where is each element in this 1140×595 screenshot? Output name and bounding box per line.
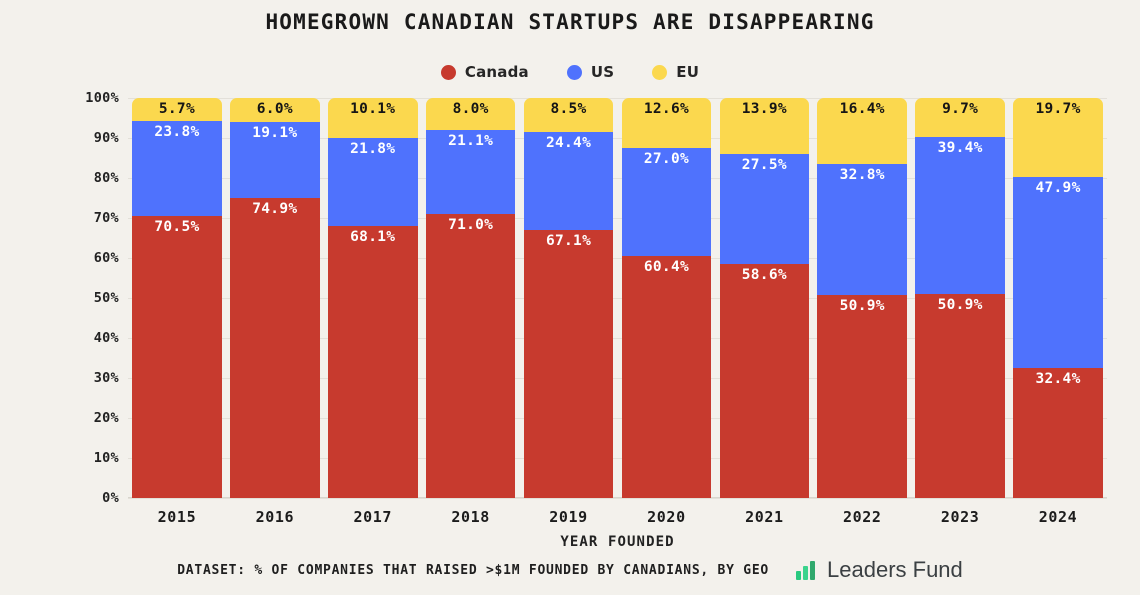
legend-label: US (591, 63, 614, 81)
bar-value-label: 70.5% (132, 218, 222, 236)
bar-value-label: 32.4% (1013, 370, 1103, 388)
bar-segment-canada-2016[interactable]: 74.9% (230, 198, 320, 498)
bar-value-label: 50.9% (817, 297, 907, 315)
bar-stack: 13.9%27.5%58.6% (720, 98, 810, 498)
bar-segment-us-2022[interactable]: 32.8% (817, 164, 907, 295)
page-title: HOMEGROWN CANADIAN STARTUPS ARE DISAPPEA… (0, 10, 1140, 34)
bar-segment-canada-2018[interactable]: 71.0% (426, 214, 516, 498)
bar-segment-eu-2016[interactable]: 6.0% (230, 98, 320, 122)
bar-segment-canada-2023[interactable]: 50.9% (915, 294, 1005, 498)
bar-group-2022[interactable]: 16.4%32.8%50.9%2022 (817, 98, 907, 498)
footer: DATASET: % OF COMPANIES THAT RAISED >$1M… (0, 557, 1140, 583)
bar-value-label: 32.8% (817, 166, 907, 184)
x-axis-tick-2021: 2021 (720, 508, 810, 526)
bar-segment-eu-2020[interactable]: 12.6% (622, 98, 712, 148)
bar-group-2023[interactable]: 9.7%39.4%50.9%2023 (915, 98, 1005, 498)
legend-dot-canada (441, 65, 456, 80)
y-axis-tick: 50% (94, 290, 119, 306)
bar-segment-canada-2024[interactable]: 32.4% (1013, 368, 1103, 498)
bar-value-label: 21.1% (426, 132, 516, 150)
bar-segment-us-2023[interactable]: 39.4% (915, 137, 1005, 295)
bar-value-label: 6.0% (230, 100, 320, 118)
plot-area: % OF OVERALL CANADIAN FOUNDED COMPANIES … (128, 98, 1107, 498)
bar-value-label: 47.9% (1013, 179, 1103, 197)
y-axis-tick: 40% (94, 330, 119, 346)
y-axis-tick: 30% (94, 370, 119, 386)
bar-stack: 19.7%47.9%32.4% (1013, 98, 1103, 498)
bar-group-2024[interactable]: 19.7%47.9%32.4%2024 (1013, 98, 1103, 498)
y-axis-tick: 100% (85, 90, 119, 106)
bar-value-label: 27.0% (622, 150, 712, 168)
bar-stack: 8.0%21.1%71.0% (426, 98, 516, 498)
bar-segment-us-2018[interactable]: 21.1% (426, 130, 516, 214)
bar-segment-us-2016[interactable]: 19.1% (230, 122, 320, 198)
legend-label: Canada (465, 63, 529, 81)
bar-segment-us-2015[interactable]: 23.8% (132, 121, 222, 216)
bar-value-label: 68.1% (328, 228, 418, 246)
bar-group-2021[interactable]: 13.9%27.5%58.6%2021 (720, 98, 810, 498)
bar-segment-us-2021[interactable]: 27.5% (720, 154, 810, 264)
legend-item-canada[interactable]: Canada (441, 63, 529, 81)
chart-legend: CanadaUSEU (0, 63, 1140, 81)
y-axis-tick: 90% (94, 130, 119, 146)
x-axis-tick-2024: 2024 (1013, 508, 1103, 526)
bar-value-label: 13.9% (720, 100, 810, 118)
bar-value-label: 5.7% (132, 100, 222, 118)
bar-value-label: 71.0% (426, 216, 516, 234)
y-axis-tick: 70% (94, 210, 119, 226)
y-axis-tick: 20% (94, 410, 119, 426)
bar-stack: 10.1%21.8%68.1% (328, 98, 418, 498)
bar-value-label: 9.7% (915, 100, 1005, 118)
bar-group-2020[interactable]: 12.6%27.0%60.4%2020 (622, 98, 712, 498)
bar-segment-us-2017[interactable]: 21.8% (328, 138, 418, 225)
x-axis-tick-2016: 2016 (230, 508, 320, 526)
x-axis-tick-2023: 2023 (915, 508, 1005, 526)
bar-segment-eu-2017[interactable]: 10.1% (328, 98, 418, 138)
legend-dot-eu (652, 65, 667, 80)
y-axis-tick: 80% (94, 170, 119, 186)
bar-value-label: 8.5% (524, 100, 614, 118)
legend-item-eu[interactable]: EU (652, 63, 699, 81)
bar-value-label: 19.7% (1013, 100, 1103, 118)
bar-segment-eu-2022[interactable]: 16.4% (817, 98, 907, 164)
bar-value-label: 24.4% (524, 134, 614, 152)
bar-segment-eu-2018[interactable]: 8.0% (426, 98, 516, 130)
x-axis-tick-2019: 2019 (524, 508, 614, 526)
bar-stack: 8.5%24.4%67.1% (524, 98, 614, 498)
bar-group-2015[interactable]: 5.7%23.8%70.5%2015 (132, 98, 222, 498)
bar-segment-canada-2019[interactable]: 67.1% (524, 230, 614, 498)
x-axis-tick-2017: 2017 (328, 508, 418, 526)
y-axis-tick: 60% (94, 250, 119, 266)
bar-value-label: 19.1% (230, 124, 320, 142)
bar-value-label: 16.4% (817, 100, 907, 118)
x-axis-tick-2020: 2020 (622, 508, 712, 526)
bar-value-label: 21.8% (328, 140, 418, 158)
dataset-caption: DATASET: % OF COMPANIES THAT RAISED >$1M… (177, 563, 769, 578)
bar-stack: 6.0%19.1%74.9% (230, 98, 320, 498)
bar-value-label: 8.0% (426, 100, 516, 118)
bar-segment-eu-2023[interactable]: 9.7% (915, 98, 1005, 137)
x-axis-title: YEAR FOUNDED (128, 534, 1107, 550)
bar-value-label: 10.1% (328, 100, 418, 118)
bar-value-label: 23.8% (132, 123, 222, 141)
bar-value-label: 27.5% (720, 156, 810, 174)
bar-stack: 9.7%39.4%50.9% (915, 98, 1005, 498)
bar-group-2017[interactable]: 10.1%21.8%68.1%2017 (328, 98, 418, 498)
legend-dot-us (567, 65, 582, 80)
bar-stack: 5.7%23.8%70.5% (132, 98, 222, 498)
bar-value-label: 60.4% (622, 258, 712, 276)
legend-item-us[interactable]: US (567, 63, 614, 81)
bar-segment-eu-2015[interactable]: 5.7% (132, 98, 222, 121)
bar-group-2016[interactable]: 6.0%19.1%74.9%2016 (230, 98, 320, 498)
x-axis-tick-2018: 2018 (426, 508, 516, 526)
bar-segment-canada-2015[interactable]: 70.5% (132, 216, 222, 498)
y-axis-tick: 0% (102, 490, 119, 506)
y-axis-tick: 10% (94, 450, 119, 466)
legend-label: EU (676, 63, 699, 81)
x-axis-tick-2015: 2015 (132, 508, 222, 526)
bar-segment-us-2024[interactable]: 47.9% (1013, 177, 1103, 369)
bar-value-label: 74.9% (230, 200, 320, 218)
bar-group-2019[interactable]: 8.5%24.4%67.1%2019 (524, 98, 614, 498)
bar-segment-canada-2017[interactable]: 68.1% (328, 226, 418, 498)
bar-value-label: 12.6% (622, 100, 712, 118)
bar-segment-canada-2021[interactable]: 58.6% (720, 264, 810, 498)
bar-segment-eu-2024[interactable]: 19.7% (1013, 98, 1103, 177)
bar-stack: 12.6%27.0%60.4% (622, 98, 712, 498)
brand-logo: Leaders Fund (795, 557, 963, 583)
bar-chart-icon (795, 558, 819, 582)
bar-segment-eu-2021[interactable]: 13.9% (720, 98, 810, 154)
bar-segment-us-2019[interactable]: 24.4% (524, 132, 614, 230)
bar-value-label: 39.4% (915, 139, 1005, 157)
bar-segment-canada-2020[interactable]: 60.4% (622, 256, 712, 498)
bar-segment-eu-2019[interactable]: 8.5% (524, 98, 614, 132)
bar-stack: 16.4%32.8%50.9% (817, 98, 907, 498)
brand-name: Leaders Fund (827, 557, 963, 583)
bar-value-label: 58.6% (720, 266, 810, 284)
gridline (128, 498, 1107, 499)
bar-group-2018[interactable]: 8.0%21.1%71.0%2018 (426, 98, 516, 498)
bar-value-label: 50.9% (915, 296, 1005, 314)
bar-segment-us-2020[interactable]: 27.0% (622, 148, 712, 256)
bar-series-container: 5.7%23.8%70.5%20156.0%19.1%74.9%201610.1… (128, 98, 1107, 498)
bar-segment-canada-2022[interactable]: 50.9% (817, 295, 907, 499)
bar-value-label: 67.1% (524, 232, 614, 250)
x-axis-tick-2022: 2022 (817, 508, 907, 526)
